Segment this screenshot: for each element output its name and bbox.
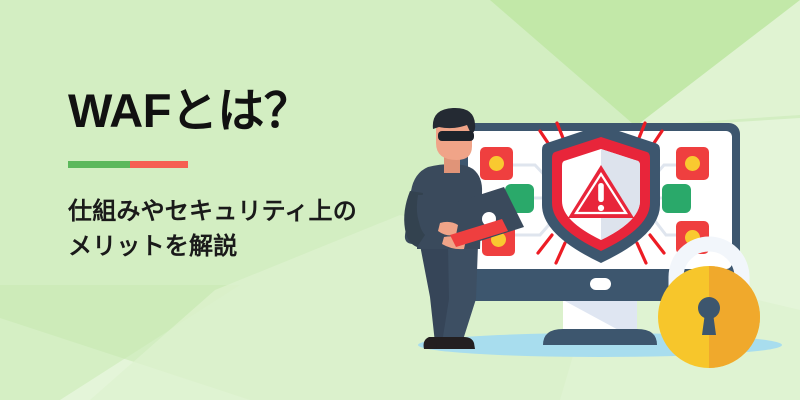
subtitle-line-1: 仕組みやセキュリティ上の bbox=[68, 198, 357, 225]
page-subtitle: 仕組みやセキュリティ上の メリットを解説 bbox=[68, 195, 418, 265]
warning-exclamation-bar bbox=[598, 183, 604, 202]
divider-green-segment bbox=[68, 161, 130, 168]
red-node-left-top bbox=[480, 147, 513, 180]
divider bbox=[68, 161, 188, 168]
monitor-power-dot bbox=[590, 278, 611, 290]
subtitle-line-2: メリットを解説 bbox=[68, 230, 418, 265]
red-node-right-top bbox=[676, 147, 709, 180]
green-node-right bbox=[662, 184, 691, 213]
divider-red-segment bbox=[130, 161, 188, 168]
page-title: WAFとは？ bbox=[68, 86, 418, 135]
waf-security-illustration bbox=[400, 95, 800, 400]
headline-block: WAFとは？ 仕組みやセキュリティ上の メリットを解説 bbox=[68, 86, 418, 265]
padlock-body-shade bbox=[709, 266, 760, 368]
character-eye-mask bbox=[438, 131, 474, 141]
monitor-base bbox=[543, 329, 657, 345]
warning-exclamation-dot bbox=[598, 205, 604, 211]
character-shoe-front bbox=[437, 337, 475, 349]
waf-banner: WAFとは？ 仕組みやセキュリティ上の メリットを解説 bbox=[0, 0, 800, 400]
